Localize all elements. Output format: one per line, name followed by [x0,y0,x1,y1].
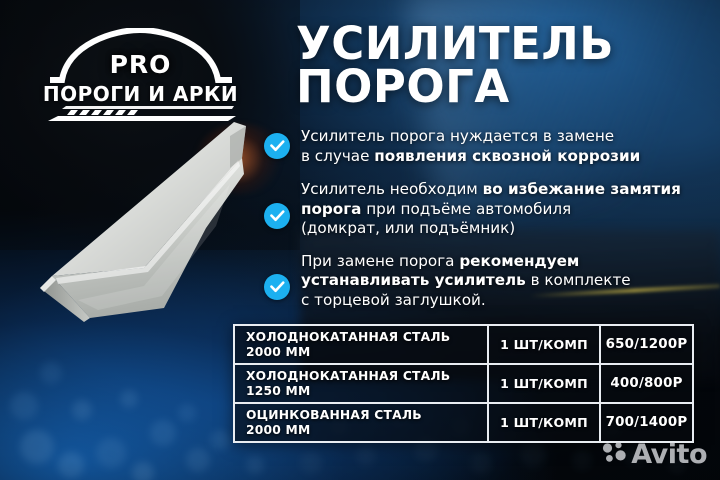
page-title: УСИЛИТЕЛЬ ПОРОГА [296,22,696,108]
table-row: ХОЛОДНОКАТАННАЯ СТАЛЬ 1250 ММ 1 ШТ/КОМП … [235,365,692,404]
headline-line-2: ПОРОГА [296,65,696,108]
bullet-2-line-3: (домкрат, или подъёмник) [301,219,515,237]
list-item: Усилитель необходим во избежание замятия… [264,179,716,239]
row-2-name-line-2: 1250 ММ [246,384,450,399]
bullet-2-line-2-plain: при подъёме автомобиля [361,200,571,218]
list-item-text: Усилитель необходим во избежание замятия… [301,179,681,239]
table-cell-price: 400/800Р [601,365,692,402]
row-1-name-line-2: 2000 ММ [246,345,450,360]
metal-sill-reinforcement-photo [0,96,262,322]
table-cell-product: ХОЛОДНОКАТАННАЯ СТАЛЬ 2000 ММ [235,326,489,363]
table-row: ОЦИНКОВАННАЯ СТАЛЬ 2000 ММ 1 ШТ/КОМП 700… [235,404,692,441]
brand-logo: PRO ПОРОГИ И АРКИ [38,28,243,120]
check-circle-icon [264,203,290,229]
avito-wordmark: Avito [631,441,707,468]
feature-list: Усилитель порога нуждается в замене в сл… [264,126,716,323]
bullet-1-line-1: Усилитель порога нуждается в замене [301,127,614,145]
logo-road-sill-icon [38,104,243,126]
advertisement-banner: PRO ПОРОГИ И АРКИ УСИЛИТЕЛЬ ПОРОГА [0,0,720,480]
headline-line-1: УСИЛИТЕЛЬ [296,22,696,65]
table-cell-product: ХОЛОДНОКАТАННАЯ СТАЛЬ 1250 ММ [235,365,489,402]
bullet-3-line-1-plain: При замене порога [301,252,459,270]
price-table: ХОЛОДНОКАТАННАЯ СТАЛЬ 2000 ММ 1 ШТ/КОМП … [233,324,694,443]
bullet-3-line-3: с торцевой заглушкой. [301,291,486,309]
table-cell-price: 700/1400Р [601,404,692,441]
bullet-2-line-2-bold: порога [301,200,361,218]
bullet-2-line-1-plain: Усилитель необходим [301,180,483,198]
table-cell-quantity: 1 ШТ/КОМП [489,365,601,402]
bullet-2-line-1-bold: во избежание замятия [483,180,681,198]
bullet-3-line-2-plain: в комплекте [526,271,631,289]
table-cell-product: ОЦИНКОВАННАЯ СТАЛЬ 2000 ММ [235,404,489,441]
table-row: ХОЛОДНОКАТАННАЯ СТАЛЬ 2000 ММ 1 ШТ/КОМП … [235,326,692,365]
list-item: Усилитель порога нуждается в замене в сл… [264,126,716,166]
list-item-text: Усилитель порога нуждается в замене в сл… [301,126,640,166]
table-cell-price: 650/1200Р [601,326,692,363]
logo-word-pororgi-i-arki: ПОРОГИ И АРКИ [38,82,243,106]
row-2-name-line-1: ХОЛОДНОКАТАННАЯ СТАЛЬ [246,369,450,384]
row-3-name-line-2: 2000 ММ [246,423,422,438]
list-item-text: При замене порога рекомендуем устанавлив… [301,251,631,311]
check-circle-icon [264,274,290,300]
bullet-3-line-2-bold: устанавливать усилитель [301,271,526,289]
list-item: При замене порога рекомендуем устанавлив… [264,251,716,311]
table-cell-quantity: 1 ШТ/КОМП [489,326,601,363]
check-circle-icon [264,133,290,159]
row-3-name-line-1: ОЦИНКОВАННАЯ СТАЛЬ [246,408,422,423]
avito-dots-icon [602,440,626,468]
table-cell-quantity: 1 ШТ/КОМП [489,404,601,441]
avito-watermark: Avito [602,440,707,468]
row-1-name-line-1: ХОЛОДНОКАТАННАЯ СТАЛЬ [246,330,450,345]
logo-word-pro: PRO [38,50,243,79]
bullet-3-line-1-bold: рекомендуем [459,252,579,270]
bullet-1-line-2-plain: в случае [301,147,374,165]
bullet-1-line-2-bold: появления сквозной коррозии [374,147,640,165]
